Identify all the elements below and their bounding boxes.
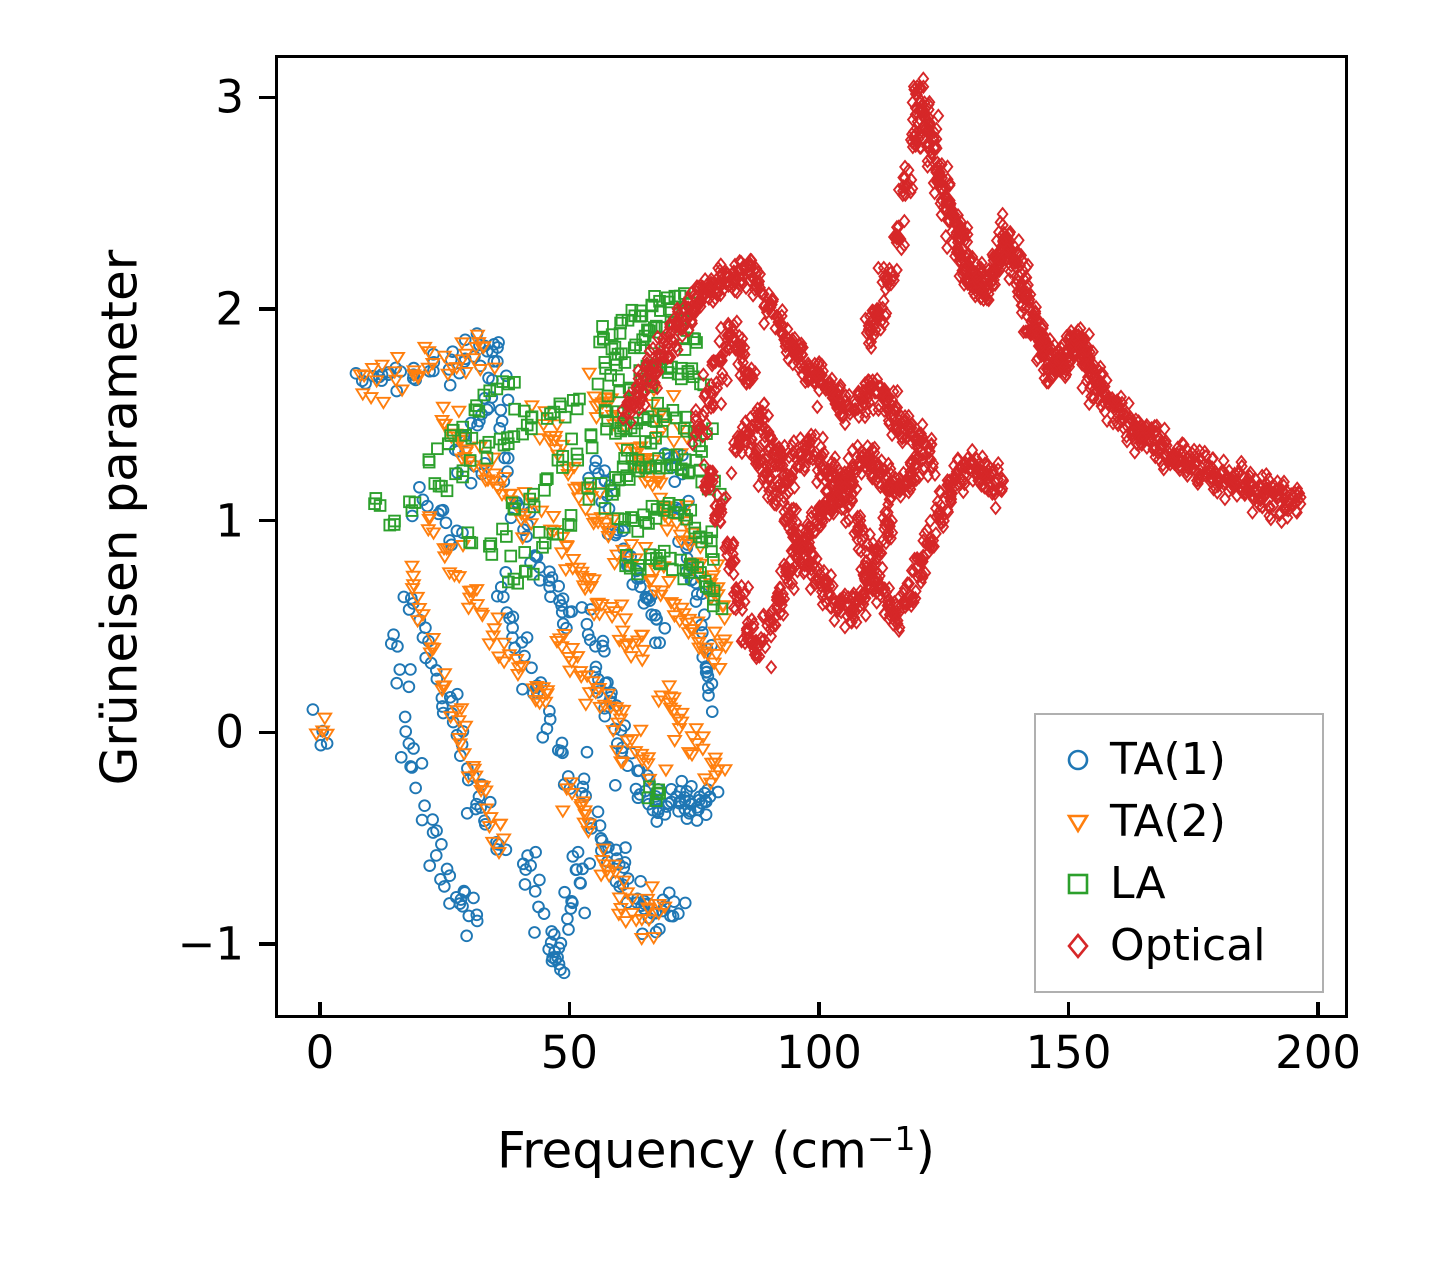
diamond-icon: [1046, 929, 1110, 963]
data-point: [613, 374, 624, 385]
data-point: [713, 787, 724, 798]
data-point: [583, 369, 596, 379]
data-point: [427, 814, 438, 825]
data-point: [394, 664, 405, 675]
data-point: [441, 517, 452, 528]
data-point: [593, 806, 604, 817]
data-point: [429, 478, 440, 489]
data-point: [492, 613, 505, 623]
data-point: [501, 531, 512, 542]
legend-item-la[interactable]: LA: [1046, 853, 1306, 915]
triangle-down-icon: [1046, 805, 1110, 839]
y-tick-label: 2: [215, 286, 244, 331]
data-point: [1248, 506, 1258, 518]
data-point: [414, 482, 425, 493]
data-point: [436, 839, 447, 850]
data-point: [594, 337, 605, 348]
data-point: [461, 930, 472, 941]
y-tick: [259, 731, 275, 734]
data-point: [528, 569, 539, 580]
data-point: [991, 502, 1001, 514]
x-axis-label: Frequency (cm−1): [0, 1120, 1432, 1180]
data-point: [579, 908, 590, 919]
y-tick-label: −1: [178, 921, 244, 966]
data-point: [497, 416, 508, 427]
legend: TA(1) TA(2) LA Optical: [1034, 713, 1324, 993]
data-point: [485, 797, 496, 808]
square-icon: [1046, 867, 1110, 901]
data-point: [619, 614, 632, 624]
data-point: [610, 780, 621, 791]
data-point: [537, 420, 550, 430]
data-point: [428, 827, 439, 838]
data-point: [635, 876, 646, 887]
legend-label-optical: Optical: [1110, 924, 1265, 968]
data-point: [619, 917, 632, 927]
data-point: [405, 664, 416, 675]
data-point: [424, 860, 435, 871]
data-point: [667, 437, 680, 447]
data-point: [483, 639, 496, 649]
data-point: [389, 519, 400, 530]
data-point: [582, 619, 593, 630]
x-tick: [817, 1002, 820, 1018]
data-point: [1220, 493, 1230, 505]
x-tick: [1067, 1002, 1070, 1018]
data-point: [766, 661, 776, 673]
data-point: [539, 908, 550, 919]
data-point: [556, 806, 569, 816]
x-tick: [1316, 1002, 1319, 1018]
data-point: [647, 933, 660, 943]
x-tick-label: 150: [1026, 1030, 1112, 1075]
data-point: [559, 887, 570, 898]
data-point: [459, 368, 472, 378]
y-axis-label: Grüneisen parameter: [93, 18, 148, 1018]
legend-label-la: LA: [1110, 862, 1166, 906]
y-tick-label: 3: [215, 75, 244, 120]
data-point: [664, 887, 675, 898]
legend-item-ta1[interactable]: TA(1): [1046, 729, 1306, 791]
data-point: [517, 684, 528, 695]
data-point: [1014, 234, 1024, 246]
data-point: [668, 736, 681, 746]
data-point: [546, 926, 557, 937]
x-tick: [568, 1002, 571, 1018]
data-point: [308, 704, 319, 715]
data-point: [646, 882, 659, 892]
data-point: [660, 765, 673, 775]
data-point: [587, 443, 598, 454]
data-point: [445, 380, 456, 391]
x-tick-label: 50: [541, 1030, 598, 1075]
scatter-plot-figure: 050100150200 3210−1 Frequency (cm−1) Grü…: [0, 0, 1432, 1264]
data-point: [579, 700, 592, 710]
data-point: [593, 379, 604, 390]
data-point: [396, 752, 407, 763]
data-point: [442, 864, 453, 875]
data-point: [453, 407, 466, 417]
data-point: [391, 353, 404, 363]
data-point: [661, 526, 674, 536]
data-point: [505, 551, 516, 562]
data-point: [391, 678, 402, 689]
x-axis-label-exponent: −1: [867, 1119, 916, 1158]
data-point: [400, 712, 411, 723]
data-point: [625, 652, 638, 662]
y-tick: [259, 96, 275, 99]
legend-label-ta1: TA(1): [1110, 738, 1226, 782]
data-point: [667, 391, 680, 401]
data-point: [813, 401, 823, 413]
data-point: [519, 547, 530, 558]
data-point: [759, 318, 769, 330]
x-tick-label: 0: [306, 1030, 335, 1075]
data-point: [437, 403, 450, 413]
data-point: [608, 559, 621, 569]
x-axis-label-paren: ): [916, 1122, 936, 1180]
data-point: [584, 858, 595, 869]
data-point: [406, 562, 419, 572]
data-point: [529, 927, 540, 938]
x-tick: [318, 1002, 321, 1018]
data-point: [432, 443, 443, 454]
data-point: [520, 879, 531, 890]
y-tick: [259, 942, 275, 945]
data-point: [497, 524, 508, 535]
data-point: [615, 601, 628, 611]
data-point: [534, 875, 545, 886]
data-point: [319, 714, 332, 724]
data-point: [703, 690, 714, 701]
data-point: [636, 656, 649, 666]
data-point: [417, 815, 428, 826]
data-point: [582, 747, 593, 758]
data-point: [547, 512, 560, 522]
data-point: [533, 902, 544, 913]
data-point: [534, 527, 545, 538]
data-point: [697, 732, 710, 742]
data-point: [462, 808, 473, 819]
data-point: [400, 726, 411, 737]
data-point: [457, 541, 470, 551]
data-point: [438, 352, 451, 362]
y-tick: [259, 307, 275, 310]
y-tick-label: 0: [215, 710, 244, 755]
data-point: [563, 924, 574, 935]
data-point: [727, 467, 737, 479]
data-point: [444, 898, 455, 909]
data-point: [562, 913, 573, 924]
x-tick-label: 100: [776, 1030, 862, 1075]
data-point: [651, 927, 662, 938]
legend-item-optical[interactable]: Optical: [1046, 915, 1306, 977]
data-point: [701, 809, 712, 820]
data-point: [417, 758, 428, 769]
data-point: [398, 592, 409, 603]
data-point: [591, 456, 602, 467]
y-tick-label: 1: [215, 498, 244, 543]
data-point: [431, 850, 442, 861]
data-point: [680, 898, 691, 909]
data-point: [674, 423, 687, 433]
x-axis-label-main: Frequency (cm: [497, 1122, 867, 1180]
data-point: [410, 783, 421, 794]
data-point: [659, 623, 670, 634]
data-point: [707, 706, 718, 717]
data-point: [691, 596, 702, 607]
data-point: [718, 614, 731, 624]
data-point: [861, 609, 871, 621]
data-point: [539, 485, 550, 496]
legend-item-ta2[interactable]: TA(2): [1046, 791, 1306, 853]
circle-icon: [1046, 743, 1110, 777]
data-point: [530, 886, 541, 897]
data-point: [419, 800, 430, 811]
data-point: [502, 466, 513, 477]
data-point: [934, 110, 944, 122]
y-tick: [259, 519, 275, 522]
x-tick-label: 200: [1275, 1030, 1361, 1075]
data-point: [404, 681, 415, 692]
data-point: [495, 405, 506, 416]
data-point: [377, 398, 390, 408]
legend-label-ta2: TA(2): [1110, 800, 1226, 844]
data-point: [663, 681, 676, 691]
